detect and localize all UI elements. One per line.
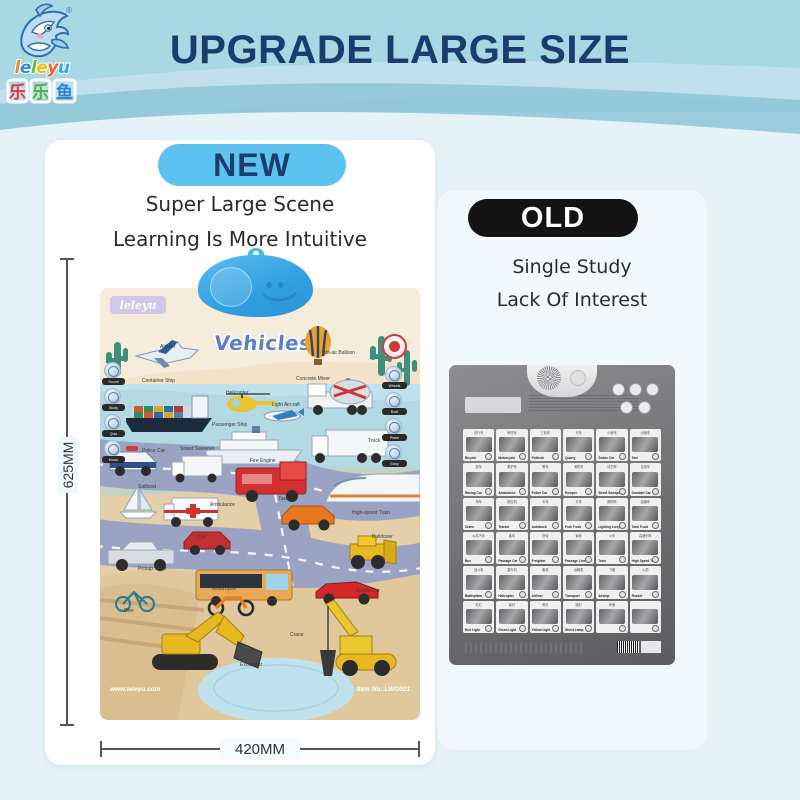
old-card-chinese-label: 客车 [496, 533, 527, 538]
old-card-illustration [599, 506, 625, 521]
poster-vehicle-illustrations [100, 288, 420, 720]
old-card-illustration [499, 472, 525, 487]
old-poster-badge [641, 641, 661, 653]
old-card-chinese-label: 出租车 [630, 430, 661, 435]
vehicle-label: Ambulance [210, 502, 235, 508]
old-card-chinese-label: 高速列车 [630, 533, 661, 538]
old-card-illustration [566, 506, 592, 521]
old-poster-button[interactable] [629, 383, 642, 396]
vehicle-label: Helicopter [226, 390, 249, 396]
old-poster-card[interactable]: 绿灯Green Light [496, 601, 527, 633]
width-dimension-cap-right [418, 741, 420, 757]
old-poster-button[interactable] [638, 401, 651, 414]
old-poster-card[interactable]: 吊车Crane [463, 498, 494, 530]
old-card-touch-point[interactable] [552, 591, 559, 598]
old-card-illustration [599, 437, 625, 452]
poster-button-study[interactable] [104, 388, 121, 405]
old-poster-footer-text [465, 643, 585, 653]
old-poster-card[interactable]: 公共汽车Bus [463, 532, 494, 564]
old-poster-card[interactable]: 消防车Pumper [563, 463, 594, 495]
old-card-touch-point[interactable] [619, 591, 626, 598]
old-card-chinese-label: 马车 [563, 430, 594, 435]
old-card-english-label [630, 632, 661, 633]
vehicle-label: Police Car [142, 448, 165, 454]
old-card-chinese-label: 摩托车 [496, 430, 527, 435]
old-card-illustration [532, 472, 558, 487]
poster-button-sound[interactable] [104, 362, 121, 379]
power-button[interactable] [382, 334, 407, 359]
poster-button-plane[interactable] [385, 418, 402, 435]
vehicle-label: Airliner [160, 344, 176, 350]
old-card-illustration [632, 609, 658, 624]
vehicle-label: Excavator [240, 662, 262, 668]
old-card-illustration [599, 575, 625, 590]
old-card-touch-point[interactable] [485, 591, 492, 598]
old-card-illustration [499, 575, 525, 590]
old-card-touch-point[interactable] [552, 488, 559, 495]
old-poster-card[interactable]: 客车Passage Car [496, 532, 527, 564]
vehicle-label: Concrete Mixer [296, 376, 330, 382]
old-poster-card[interactable]: 救护车Ambulance [496, 463, 527, 495]
old-poster-card[interactable]: 出租车Taxi [630, 429, 661, 461]
vehicle-label: Street Sweeper [180, 446, 214, 452]
old-card-touch-point[interactable] [552, 625, 559, 632]
vehicle-label: Fire Engine [250, 458, 276, 464]
page-title: UPGRADE LARGE SIZE [150, 24, 650, 76]
old-card-chinese-label: 直升机 [496, 567, 527, 572]
vehicle-label: Bike [124, 608, 134, 614]
old-card-illustration [499, 506, 525, 521]
old-badge: OLD [468, 199, 638, 237]
old-poster-card[interactable]: 火车Train [596, 532, 627, 564]
old-poster-card[interactable]: 清扫车Street Sweeper [596, 463, 627, 495]
height-dimension-cap-top [60, 258, 74, 260]
svg-text:乐: 乐 [9, 83, 26, 103]
old-poster-text-block [465, 397, 521, 413]
old-card-touch-point[interactable] [619, 522, 626, 529]
dolphin-mascot-icon [12, 2, 74, 64]
old-card-chinese-label: 声音 [596, 602, 627, 607]
old-poster-inner: 自行车Bicycle摩托车Motorcycle三轮车Pedicab马车Quarr… [455, 371, 669, 659]
old-poster-card[interactable]: 火箭Rocket [630, 566, 661, 598]
old-poster-card[interactable]: 油罐车Tank Truck [630, 498, 661, 530]
old-poster-card[interactable]: 拖拉机Tractor [496, 498, 527, 530]
old-card-touch-point[interactable] [619, 625, 626, 632]
height-dimension-label: 625MM [58, 437, 78, 493]
old-card-chinese-label: 飞艇 [596, 567, 627, 572]
height-dimension-cap-bottom [60, 724, 74, 726]
registered-mark: ® [66, 6, 72, 15]
old-poster-card[interactable]: 赛车Racing Car [463, 463, 494, 495]
poster-button-label: Story [382, 460, 407, 467]
vehicle-label: High-speed Train [352, 510, 390, 516]
old-poster-mid-buttons[interactable] [620, 401, 651, 414]
old-poster-card[interactable]: 叉车Fork Truck [563, 498, 594, 530]
vehicle-label: Car [198, 534, 206, 540]
old-card-chinese-label: 公共汽车 [463, 533, 494, 538]
product-comparison-banner: ® leleyu 乐 乐 鱼 UPGRADE LARGE SIZE NEW Su… [0, 0, 800, 800]
old-card-touch-point[interactable] [619, 556, 626, 563]
old-card-touch-point[interactable] [652, 488, 659, 495]
vehicle-label: Truck [368, 438, 380, 444]
vehicle-label: Sports Car [356, 588, 380, 594]
old-card-chinese-label: 警车 [530, 464, 561, 469]
old-card-touch-point[interactable] [652, 591, 659, 598]
old-card-chinese-label: 清扫车 [596, 464, 627, 469]
poster-button-label: Study [102, 404, 125, 411]
vehicle-label: Light Aircraft [272, 402, 300, 408]
old-card-touch-point[interactable] [519, 556, 526, 563]
old-card-touch-point[interactable] [585, 591, 592, 598]
old-card-touch-point[interactable] [619, 488, 626, 495]
old-poster-button[interactable] [612, 383, 625, 396]
old-card-illustration [499, 437, 525, 452]
old-card-touch-point[interactable] [652, 522, 659, 529]
poster-button-music[interactable] [104, 440, 121, 457]
old-poster-card[interactable]: 摩托车Motorcycle [496, 429, 527, 461]
old-card-chinese-label: 黄灯 [530, 602, 561, 607]
old-card-chinese-label: 红灯 [463, 602, 494, 607]
old-card-illustration [566, 609, 592, 624]
old-card-illustration [566, 472, 592, 487]
old-poster-card[interactable]: 客机Airliner [530, 566, 561, 598]
old-poster-card[interactable]: 自行车Bicycle [463, 429, 494, 461]
old-poster-card[interactable]: 红灯Red Light [463, 601, 494, 633]
poster-button-label: Music [102, 456, 125, 463]
old-card-illustration [499, 540, 525, 555]
vehicle-label: Sailboat [138, 484, 156, 490]
speaker-face-icon [263, 281, 297, 303]
width-dimension-cap-left [100, 741, 102, 757]
poster-button-story[interactable] [385, 444, 402, 461]
old-poster-card[interactable]: 垃圾车Dustcart Car [630, 463, 661, 495]
poster-button-quiz[interactable] [104, 414, 121, 431]
old-card-chinese-label: 路灯 [563, 602, 594, 607]
old-card-illustration [532, 609, 558, 624]
brand-logo: ® leleyu 乐 乐 鱼 [4, 2, 78, 110]
old-card-illustration [466, 437, 492, 452]
old-card-chinese-label: 小轿车 [596, 430, 627, 435]
old-card-chinese-label: 拖拉机 [496, 499, 527, 504]
old-card-touch-point[interactable] [652, 625, 659, 632]
old-poster-card[interactable]: 战斗机Battleplane [463, 566, 494, 598]
poster-button-label: Sound [102, 378, 125, 385]
poster-button-label: Quiz [102, 430, 125, 437]
old-card-illustration [632, 472, 658, 487]
vehicle-label: Motorcycle [212, 586, 236, 592]
old-poster-card[interactable]: 声音 [596, 601, 627, 633]
old-card-illustration [466, 575, 492, 590]
whale-speaker-module[interactable] [198, 255, 313, 317]
old-tagline-2: Lack Of Interest [437, 289, 707, 311]
new-tagline-1: Super Large Scene [45, 192, 435, 216]
old-poster-card[interactable]: 警车Police Car [530, 463, 561, 495]
poster-button-boat[interactable] [385, 392, 402, 409]
old-card-illustration [466, 609, 492, 624]
old-card-chinese-label: 赛车 [463, 464, 494, 469]
old-poster-button[interactable] [646, 383, 659, 396]
old-card-touch-point[interactable] [485, 488, 492, 495]
barcode-icon [617, 641, 639, 653]
old-card-touch-point[interactable] [585, 488, 592, 495]
old-card-chinese-label: 卡车 [530, 499, 561, 504]
old-poster-button[interactable] [620, 401, 633, 414]
old-card-illustration [466, 506, 492, 521]
old-card-illustration [566, 540, 592, 555]
old-card-illustration [532, 506, 558, 521]
new-badge: NEW [158, 144, 346, 186]
old-card-illustration [532, 437, 558, 452]
poster-button-label: Plane [382, 434, 407, 441]
poster-button-label: Wheels [382, 382, 407, 389]
vehicle-label: Crane [290, 632, 304, 638]
old-card-chinese-label: 油罐车 [630, 499, 661, 504]
old-card-illustration [632, 437, 658, 452]
old-card-chinese-label: 绿灯 [496, 602, 527, 607]
old-card-chinese-label: 运输机 [563, 567, 594, 572]
old-card-illustration [599, 540, 625, 555]
old-poster-card[interactable]: 小轿车Sedan Car [596, 429, 627, 461]
old-card-chinese-label: 叉车 [563, 499, 594, 504]
old-poster-card[interactable]: 卡车Autotruck [530, 498, 561, 530]
old-card-illustration [632, 506, 658, 521]
old-card-illustration [466, 540, 492, 555]
vehicle-label: Container Ship [142, 378, 175, 384]
old-poster-card[interactable]: 客轮Passage Liner [563, 532, 594, 564]
old-poster-card[interactable]: 照明车Lighting Lorry [596, 498, 627, 530]
old-card-touch-point[interactable] [619, 453, 626, 460]
old-card-chinese-label: 客机 [530, 567, 561, 572]
old-card-english-label [596, 632, 627, 633]
svg-text:鱼: 鱼 [56, 82, 73, 103]
poster-button-wheels[interactable] [385, 366, 402, 383]
old-poster-card[interactable]: 飞艇Airship [596, 566, 627, 598]
old-card-chinese-label: 火车 [596, 533, 627, 538]
old-card-chinese-label: 消防车 [563, 464, 594, 469]
old-card-chinese-label: 战斗机 [463, 567, 494, 572]
old-card-chinese-label: 火箭 [630, 567, 661, 572]
old-card-touch-point[interactable] [519, 522, 526, 529]
old-poster-card[interactable]: 路灯Street Lamp [563, 601, 594, 633]
old-card-illustration [532, 575, 558, 590]
old-card-touch-point[interactable] [519, 591, 526, 598]
speaker-grille-icon [537, 366, 561, 390]
new-tagline-2: Learning Is More Intuitive [45, 227, 435, 251]
old-poster-card-grid: 自行车Bicycle摩托车Motorcycle三轮车Pedicab马车Quarr… [463, 429, 661, 633]
vehicle-label: Hot-air Balloon [322, 350, 355, 356]
old-card-illustration [599, 609, 625, 624]
vehicle-label: Bulldozer [372, 534, 393, 540]
brand-wordmark: leleyu [8, 58, 76, 78]
old-card-illustration [566, 575, 592, 590]
old-card-chinese-label: 货轮 [530, 533, 561, 538]
old-poster-card[interactable]: 马车Quarry [563, 429, 594, 461]
old-card-touch-point[interactable] [519, 453, 526, 460]
brand-chinese-logo: 乐 乐 鱼 [6, 76, 78, 106]
old-card-chinese-label: 三轮车 [530, 430, 561, 435]
old-card-illustration [599, 472, 625, 487]
old-card-touch-point[interactable] [519, 488, 526, 495]
old-poster-card[interactable]: 运输机Transport [563, 566, 594, 598]
speaker-grille-icon [210, 267, 252, 307]
old-card-touch-point[interactable] [519, 625, 526, 632]
vehicle-label: Bus [202, 578, 211, 584]
vehicle-label: Passenger Ship [212, 422, 247, 428]
old-poster-card[interactable]: 货轮Freighter [530, 532, 561, 564]
old-card-illustration [466, 472, 492, 487]
old-tagline-1: Single Study [437, 256, 707, 278]
old-poster-card[interactable]: 高速列车High Speed Train [630, 532, 661, 564]
old-poster-card[interactable]: 三轮车Pedicab [530, 429, 561, 461]
svg-text:乐: 乐 [32, 83, 49, 103]
old-poster-card[interactable] [630, 601, 661, 633]
old-speaker-knob[interactable] [570, 370, 586, 386]
old-poster-card[interactable]: 黄灯Yellow Light [530, 601, 561, 633]
old-card-illustration [632, 575, 658, 590]
old-card-illustration [532, 540, 558, 555]
old-card-touch-point[interactable] [552, 522, 559, 529]
new-vehicles-poster: leleyu Vehicles www.leleyu.com Item No.:… [100, 288, 420, 720]
old-card-chinese-label: 吊车 [463, 499, 494, 504]
old-card-illustration [499, 609, 525, 624]
old-card-chinese-label: 救护车 [496, 464, 527, 469]
vehicle-label: Taxi [278, 496, 287, 502]
old-card-chinese-label: 照明车 [596, 499, 627, 504]
old-card-chinese-label: 自行车 [463, 430, 494, 435]
poster-button-label: Boat [382, 408, 407, 415]
old-vehicles-poster: 自行车Bicycle摩托车Motorcycle三轮车Pedicab马车Quarr… [449, 365, 675, 665]
old-card-chinese-label: 客轮 [563, 533, 594, 538]
old-card-illustration [566, 437, 592, 452]
old-card-chinese-label: 垃圾车 [630, 464, 661, 469]
old-card-illustration [632, 540, 658, 555]
vehicle-label: Pickup Truck [138, 566, 167, 572]
old-poster-card[interactable]: 直升机Helicopter [496, 566, 527, 598]
old-poster-top-buttons[interactable] [612, 383, 659, 396]
width-dimension-label: 420MM [220, 738, 300, 760]
